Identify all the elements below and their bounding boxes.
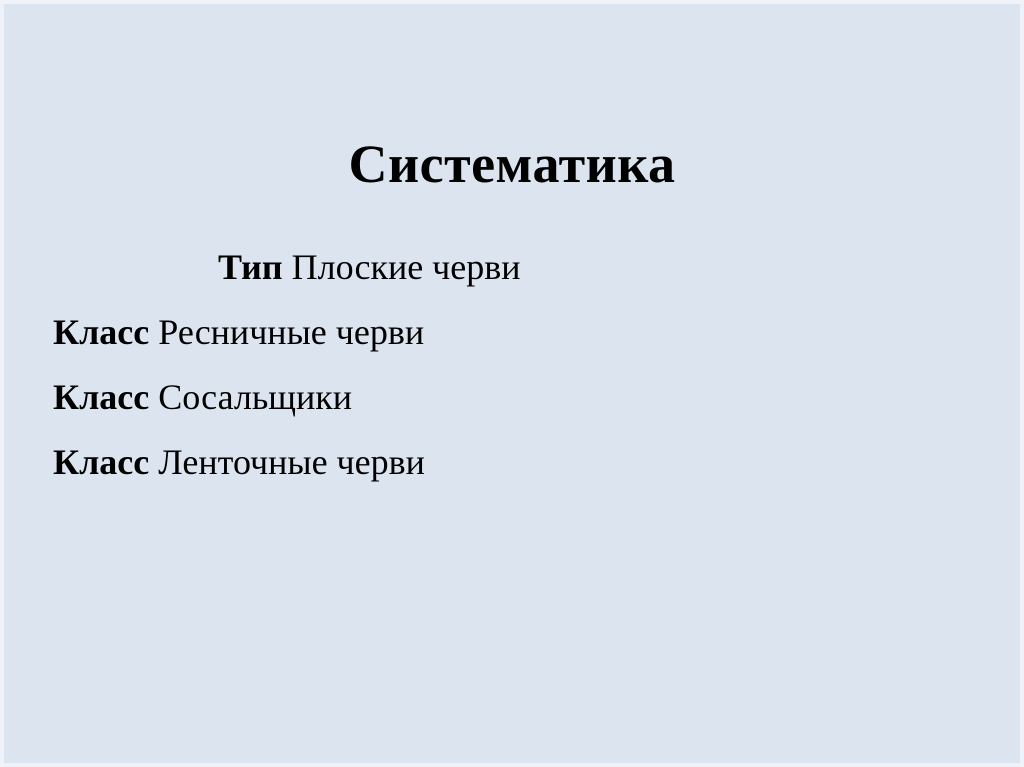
list-item: Класс Ресничные черви: [53, 300, 981, 365]
list-item: Тип Плоские черви: [53, 235, 981, 300]
page-title: Систематика: [3, 135, 1021, 193]
taxonomy-taxon-name: Сосальщики: [158, 377, 352, 417]
taxonomy-rank-label: Класс: [53, 442, 149, 482]
taxonomy-taxon-name: Плоские черви: [292, 247, 521, 287]
taxonomy-separator: [149, 312, 158, 352]
taxonomy-list: Тип Плоские черви Класс Ресничные черви …: [53, 235, 981, 495]
taxonomy-taxon-name: Ресничные черви: [158, 312, 424, 352]
taxonomy-separator: [149, 377, 158, 417]
list-item: Класс Ленточные черви: [53, 430, 981, 495]
presentation-slide: Систематика Тип Плоские черви Класс Ресн…: [0, 0, 1024, 767]
taxonomy-rank-label: Класс: [53, 377, 149, 417]
taxonomy-taxon-name: Ленточные черви: [158, 442, 425, 482]
taxonomy-rank-label: Класс: [53, 312, 149, 352]
taxonomy-separator: [283, 247, 292, 287]
list-item: Класс Сосальщики: [53, 365, 981, 430]
taxonomy-separator: [149, 442, 158, 482]
taxonomy-rank-label: Тип: [218, 247, 283, 287]
